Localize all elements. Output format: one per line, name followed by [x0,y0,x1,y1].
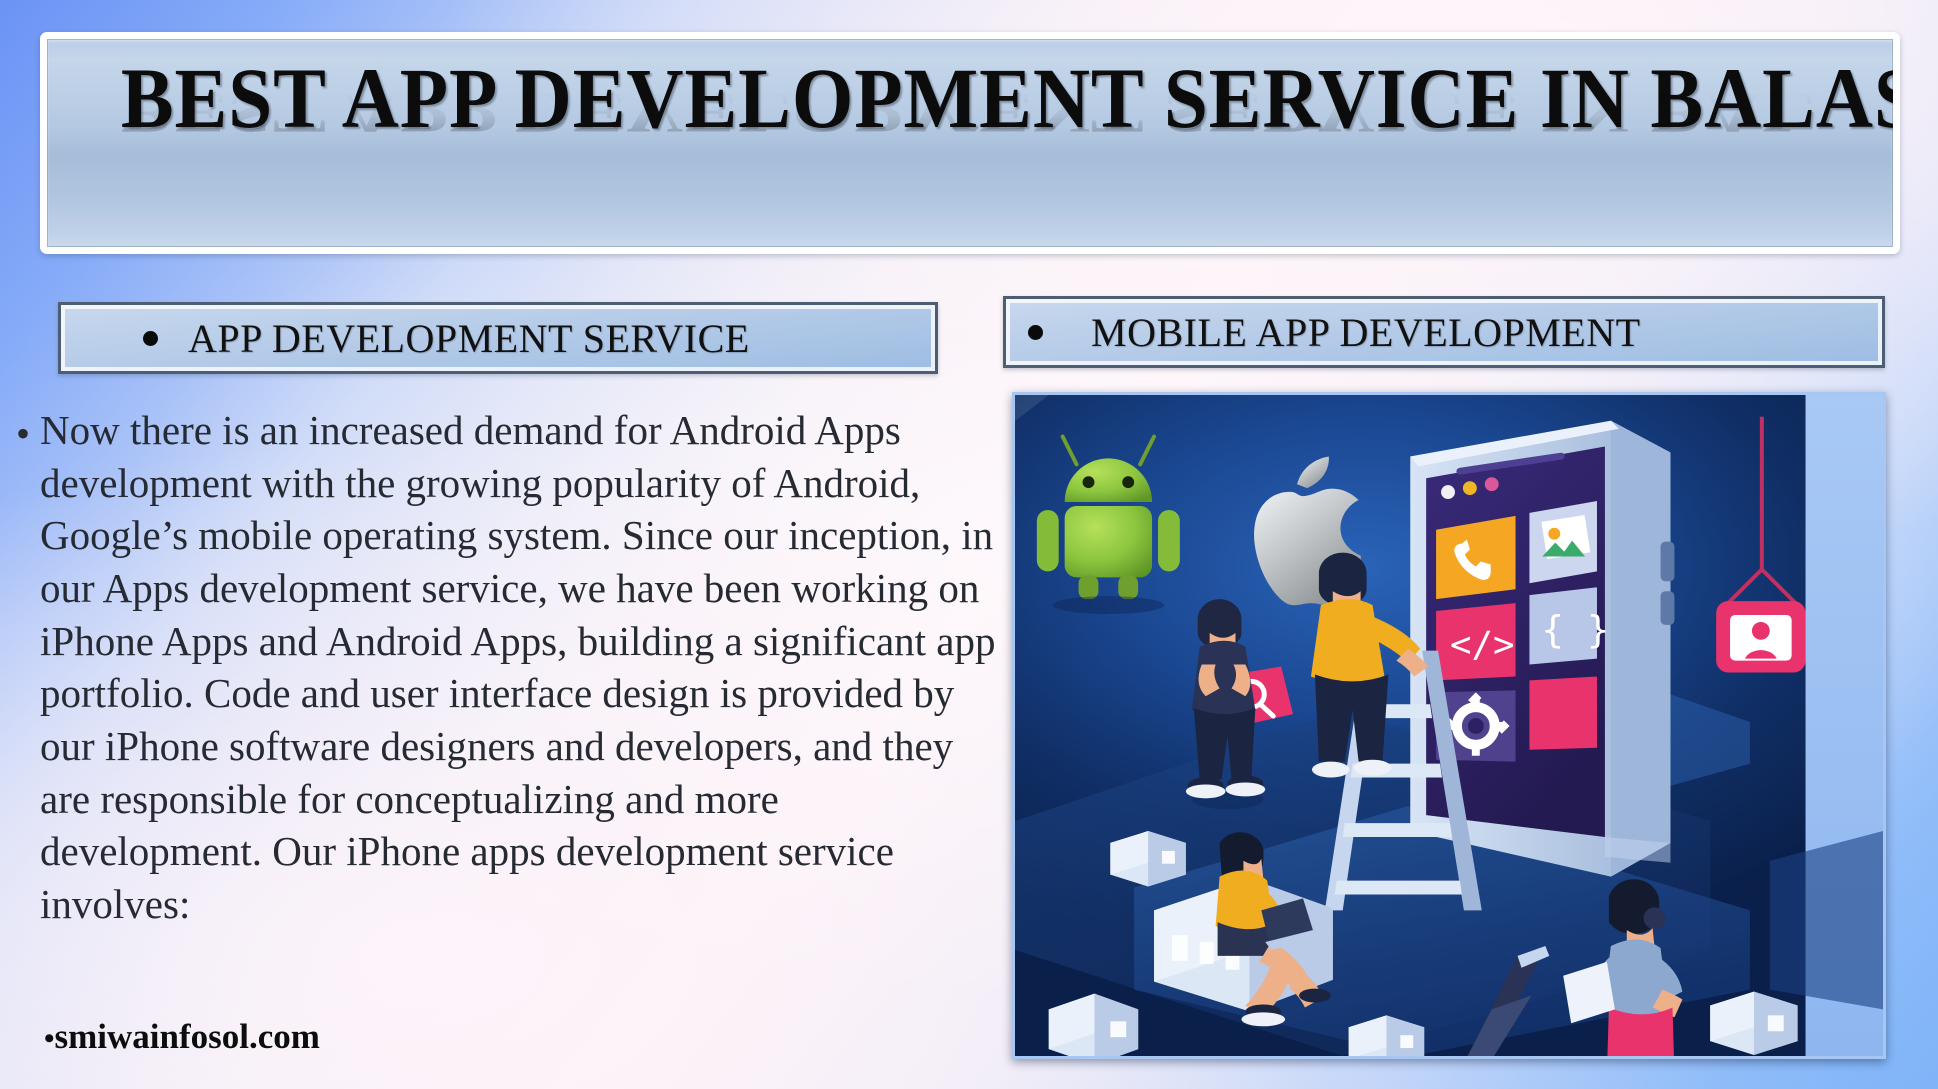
svg-text:</>: </> [1450,625,1515,666]
bullet-dot-icon [143,331,158,346]
page-title-reflection: BEST APP DEVELOPMENT SERVICE IN BALASORE [121,83,1819,141]
cube [1710,992,1797,1055]
android-robot-icon [1037,437,1180,614]
mobile-app-development-illustration: </> { } [1012,392,1886,1059]
bullet-glyph-icon: • [16,414,30,454]
footer-bullet-glyph-icon: • [44,1022,55,1055]
section-header-app-development-service: APP DEVELOPMENT SERVICE [58,302,938,374]
slide-title-plaque: BEST APP DEVELOPMENT SERVICE IN BALASORE… [40,32,1900,254]
footer-website: •smiwainfosol.com [44,1017,320,1057]
footer-website-label: smiwainfosol.com [55,1017,320,1056]
body-bullet-item: • Now there is an increased demand for A… [16,404,998,931]
phone-app-icon-photo-gallery [1529,501,1597,583]
user-profile-hanging-tile-icon [1716,417,1805,673]
phone-app-icon-code-brackets: </> [1436,603,1515,680]
cube [1110,831,1185,886]
body-paragraph: Now there is an increased demand for And… [40,404,998,931]
section-header-label: MOBILE APP DEVELOPMENT [1091,309,1641,356]
section-header-label: APP DEVELOPMENT SERVICE [188,315,750,362]
section-header-row: APP DEVELOPMENT SERVICE [61,315,935,362]
phone-app-icon-phone-call [1436,516,1515,599]
illustration-canvas: </> { } [1015,395,1883,1056]
floor-right-edge [1770,831,1883,1009]
section-header-mobile-app-development: MOBILE APP DEVELOPMENT [1003,296,1885,368]
bullet-dot-icon [1028,325,1043,340]
slide-title-inner: BEST APP DEVELOPMENT SERVICE IN BALASORE… [47,39,1893,247]
phone-app-icon-pink-lower [1529,676,1597,749]
section-header-row: MOBILE APP DEVELOPMENT [1006,309,1882,356]
cube [1049,994,1138,1056]
slide-title-stack: BEST APP DEVELOPMENT SERVICE IN BALASORE… [47,57,1893,223]
svg-text:{ }: { } [1541,608,1609,652]
